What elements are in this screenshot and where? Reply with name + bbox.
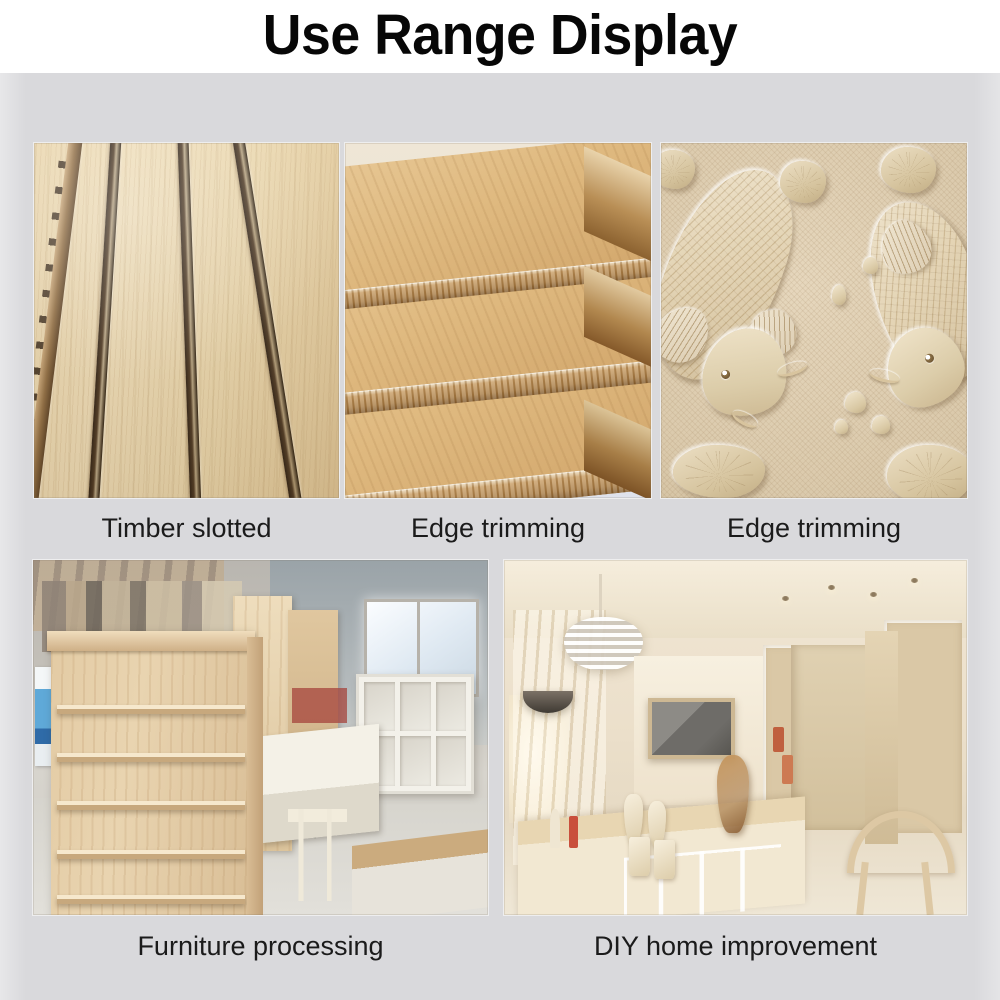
shelf-cube (436, 736, 467, 786)
carved-pebble (845, 392, 866, 413)
photo-plywood-stack (345, 143, 651, 498)
bookshelf-shelf (57, 895, 245, 904)
koi-eye (924, 352, 935, 363)
caption-furniture-processing: Furniture processing (33, 931, 488, 961)
wood-knot (117, 676, 128, 692)
bookshelf-side-panel (247, 637, 263, 915)
wood-knot (147, 668, 158, 684)
photo-furniture-workshop (33, 560, 488, 915)
bookshelf-shelf (57, 850, 245, 859)
lotus-leaf (881, 147, 936, 193)
page-title: Use Range Display (30, 1, 970, 69)
downlight (782, 596, 789, 601)
wood-knot (167, 810, 178, 826)
photo-koi-relief (661, 143, 967, 498)
lotus-leaf (780, 161, 826, 204)
caption-timber-slotted: Timber slotted (34, 513, 339, 543)
gallery-image-carved-relief (661, 143, 967, 498)
lotus-leaf (887, 445, 967, 498)
leaf-veins (661, 155, 690, 185)
gallery-image-timber-slotted (34, 143, 339, 498)
carved-pebble (872, 416, 890, 434)
artichoke-pendant-lamp (564, 617, 643, 670)
photo-slotted-timber (34, 143, 339, 498)
header-band: Use Range Display (0, 0, 1000, 73)
shelf-cube (436, 682, 467, 732)
caption-edge-trimming-carving: Edge trimming (661, 513, 967, 543)
downlight (870, 592, 877, 597)
wood-knot (179, 674, 190, 690)
photo-living-room (504, 560, 967, 915)
wood-knot (87, 671, 98, 687)
wood-knot (95, 813, 106, 829)
gallery-image-furniture-processing (33, 560, 488, 915)
red-crate (292, 688, 347, 724)
pine-bookshelf (51, 631, 251, 915)
decor-vase-orange (782, 755, 794, 783)
carved-pebble (835, 420, 847, 434)
bookshelf-shelf (57, 705, 245, 714)
gallery-image-diy-home (504, 560, 967, 915)
white-bottle (550, 809, 560, 848)
tabletop-cup (654, 840, 675, 879)
leaf-veins (786, 166, 821, 198)
wishbone-chair (837, 809, 957, 916)
lotus-leaf (673, 445, 765, 498)
red-bottle (569, 816, 578, 848)
shelf-cube (400, 682, 431, 732)
koi-eye (720, 369, 731, 380)
leaf-veins (898, 452, 963, 498)
shelf-cube (400, 736, 431, 786)
wall-mounted-tv (648, 698, 736, 758)
downlight (828, 585, 835, 590)
wooden-stool (288, 809, 347, 901)
surface-sheen (34, 143, 339, 498)
caption-diy-home-improvement: DIY home improvement (504, 931, 967, 961)
leaf-veins (684, 451, 754, 492)
leaf-veins (888, 152, 930, 187)
decor-vase-red (773, 727, 785, 752)
carved-bubble (832, 285, 846, 305)
tabletop-cup (629, 837, 650, 876)
gallery-image-edge-trimming-panels (345, 143, 651, 498)
caption-edge-trimming-panels: Edge trimming (345, 513, 651, 543)
bookshelf-shelf (57, 801, 245, 810)
infographic-page: Use Range Display (0, 0, 1000, 1000)
wood-knot (135, 818, 146, 834)
bookshelf-top-rail (47, 631, 255, 651)
carved-bubble (863, 257, 878, 275)
bookshelf-shelf (57, 753, 245, 762)
